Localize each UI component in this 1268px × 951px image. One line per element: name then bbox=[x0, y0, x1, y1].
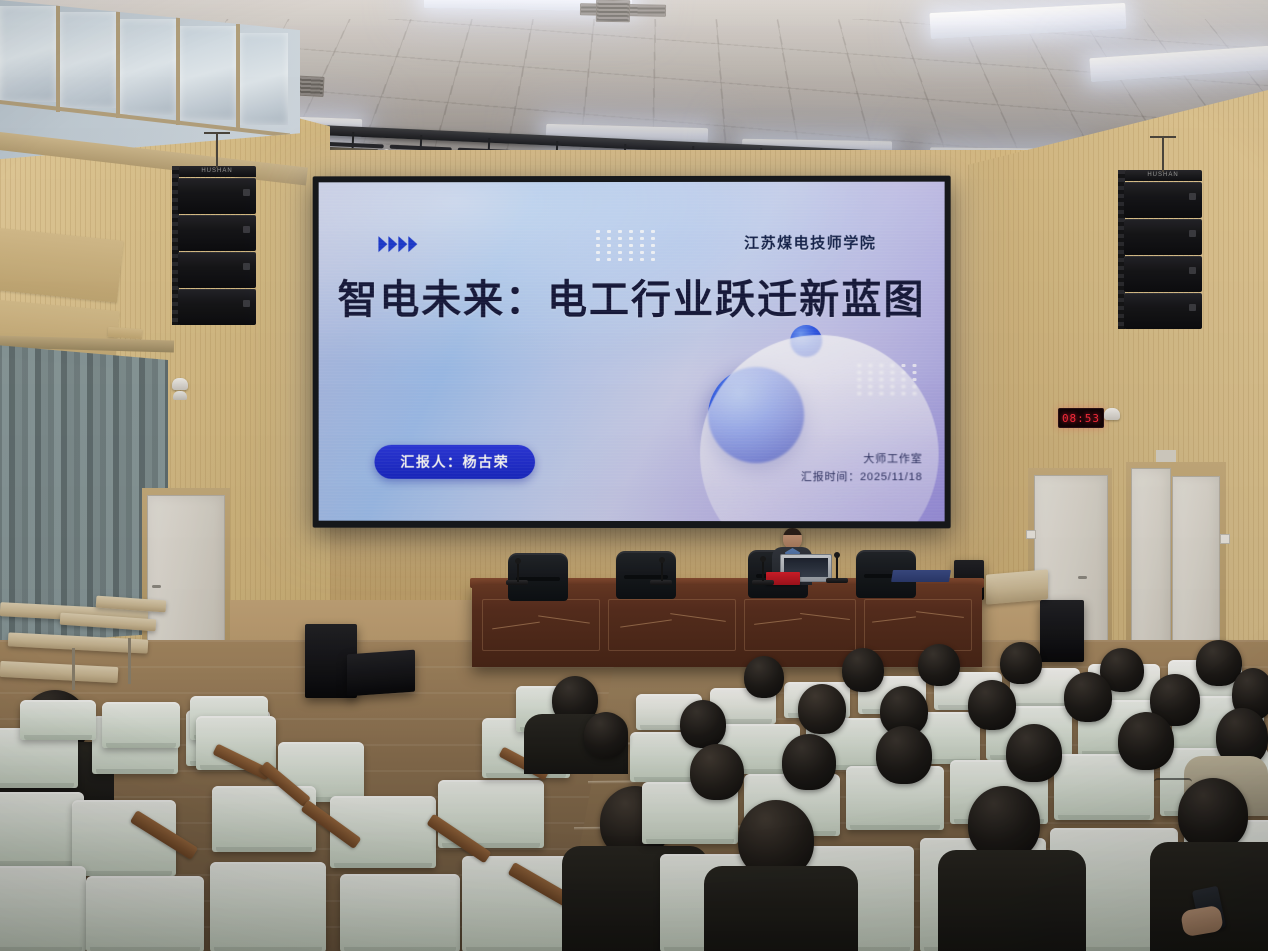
audience-head bbox=[876, 726, 932, 784]
slide-title: 智电未来：电工行业跃迁新蓝图 bbox=[319, 278, 945, 322]
studio-name: 大师工作室 bbox=[801, 450, 923, 469]
gooseneck-microphone bbox=[762, 560, 764, 581]
report-time: 汇报时间：2025/11/18 bbox=[801, 468, 923, 487]
podium-chair bbox=[616, 551, 676, 599]
audience-head bbox=[918, 644, 960, 686]
organization-name: 江苏煤电技师学院 bbox=[744, 232, 876, 253]
audience-head bbox=[842, 648, 884, 692]
ptz-camera-left bbox=[172, 378, 188, 400]
presentation-slide: 江苏煤电技师学院 智电未来：电工行业跃迁新蓝图 汇报人：杨古荣 大师工作室 汇报… bbox=[319, 182, 945, 522]
audience-seat bbox=[102, 702, 180, 748]
audience-head bbox=[680, 700, 726, 748]
auditorium-photo: 08:53 HUSHAN HUSHAN bbox=[0, 0, 1268, 951]
floor-monitor-speaker-left2 bbox=[347, 650, 415, 697]
eyeglasses-icon bbox=[1154, 778, 1192, 786]
door-handle[interactable] bbox=[152, 585, 161, 588]
wall-outlet-plate[interactable] bbox=[1156, 450, 1176, 462]
gooseneck-microphone bbox=[517, 562, 519, 582]
desk-leg bbox=[72, 648, 75, 690]
audience-head bbox=[1118, 712, 1174, 770]
audience-head bbox=[1064, 672, 1112, 722]
audience-shoulders bbox=[704, 866, 858, 951]
gooseneck-microphone bbox=[661, 561, 663, 581]
slide-footnote: 大师工作室 汇报时间：2025/11/18 bbox=[801, 450, 923, 488]
audience-head bbox=[1000, 642, 1042, 684]
audience-seat bbox=[0, 866, 86, 951]
audience-head bbox=[1006, 724, 1062, 782]
audience-head bbox=[798, 684, 846, 734]
audience-head bbox=[782, 734, 836, 790]
dot-grid-decoration-top bbox=[596, 230, 655, 261]
led-video-wall: 江苏煤电技师学院 智电未来：电工行业跃迁新蓝图 汇报人：杨古荣 大师工作室 汇报… bbox=[313, 176, 951, 529]
gooseneck-microphone bbox=[836, 556, 838, 579]
subwoofer-right bbox=[1040, 600, 1084, 662]
presenter-badge: 汇报人：杨古荣 bbox=[374, 445, 535, 479]
audience-seat bbox=[86, 876, 204, 951]
line-array-speaker-right: HUSHAN bbox=[1124, 170, 1202, 329]
led-clock-display: 08:53 bbox=[1058, 408, 1104, 428]
audience-seat bbox=[340, 874, 460, 951]
side-desk bbox=[986, 569, 1048, 604]
audience-head bbox=[968, 680, 1016, 730]
audience-head bbox=[968, 786, 1040, 860]
audience-head bbox=[584, 712, 628, 758]
audience-seat bbox=[20, 700, 96, 740]
audience-head bbox=[744, 656, 784, 698]
clock-value: 08:53 bbox=[1062, 412, 1100, 425]
door-handle[interactable] bbox=[1078, 576, 1087, 579]
door-left-wall[interactable] bbox=[147, 495, 225, 657]
audience-head bbox=[690, 744, 744, 800]
audience-shoulders bbox=[938, 850, 1086, 951]
desk-leg bbox=[128, 638, 131, 684]
line-array-speaker-left: HUSHAN bbox=[178, 166, 256, 325]
ptz-camera-right bbox=[1104, 408, 1120, 420]
audience-head bbox=[1178, 778, 1248, 850]
wall-switch-plate[interactable] bbox=[1026, 530, 1036, 539]
audience-seat bbox=[210, 862, 326, 951]
wall-switch-plate[interactable] bbox=[1220, 534, 1230, 544]
wall-trim-band bbox=[0, 228, 123, 303]
documents-on-table bbox=[891, 570, 951, 582]
chevron-arrows-icon bbox=[378, 236, 417, 252]
